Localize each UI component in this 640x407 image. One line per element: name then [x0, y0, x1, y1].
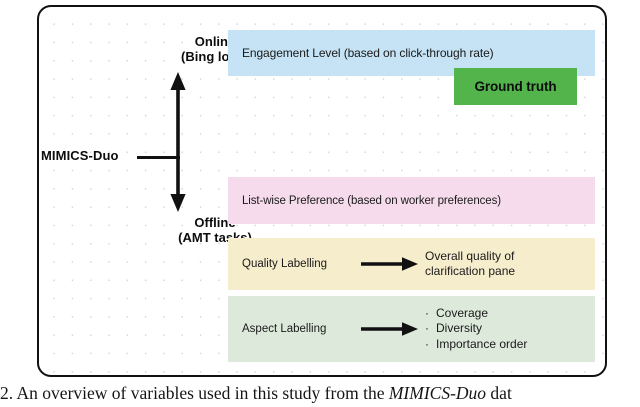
bar-aspect-labelling: Aspect Labelling ·Coverage ·Diversity ·I…: [228, 296, 595, 362]
quality-right-arrow-icon: [359, 256, 421, 272]
bar-aspect-labelling-label: Aspect Labelling: [228, 323, 359, 335]
quality-target-line1: Overall quality of: [425, 249, 515, 264]
bar-aspect-labelling-targets: ·Coverage ·Diversity ·Importance order: [421, 306, 527, 352]
bullet-marker-icon: ·: [425, 337, 436, 352]
bar-quality-labelling: Quality Labelling Overall quality of cla…: [228, 238, 595, 290]
figure-caption-dataset: MIMICS-Duo: [389, 383, 486, 403]
figure-caption-suffix: dat: [490, 383, 511, 403]
bar-engagement-level-label: Engagement Level (based on click-through…: [242, 46, 494, 60]
double-headed-vertical-arrow-icon: [165, 71, 191, 213]
bar-listwise-preference-label: List-wise Preference (based on worker pr…: [242, 195, 501, 207]
bar-quality-labelling-label: Quality Labelling: [228, 258, 359, 270]
list-item: ·Coverage: [425, 306, 527, 321]
list-item: ·Importance order: [425, 337, 527, 352]
badge-ground-truth: Ground truth: [454, 68, 577, 105]
figure-caption: 2. An overview of variables used in this…: [0, 379, 640, 407]
figure-panel: Online (Bing logs) Offline (AMT tasks) M…: [37, 5, 607, 377]
list-item: ·Diversity: [425, 321, 527, 336]
dataset-label-mimics-duo: MIMICS-Duo: [41, 148, 119, 163]
aspect-target-1: Diversity: [436, 321, 482, 335]
bar-listwise-preference: List-wise Preference (based on worker pr…: [228, 177, 595, 224]
aspect-target-2: Importance order: [436, 337, 527, 351]
bullet-marker-icon: ·: [425, 306, 436, 321]
bullet-marker-icon: ·: [425, 321, 436, 336]
quality-target-line2: clarification pane: [425, 264, 515, 279]
aspect-target-0: Coverage: [436, 306, 488, 320]
badge-ground-truth-label: Ground truth: [474, 79, 556, 94]
figure-caption-text: An overview of variables used in this st…: [17, 383, 385, 403]
bar-quality-labelling-target: Overall quality of clarification pane: [421, 249, 515, 280]
figure-caption-number: 2.: [0, 383, 13, 403]
aspect-right-arrow-icon: [359, 321, 421, 337]
